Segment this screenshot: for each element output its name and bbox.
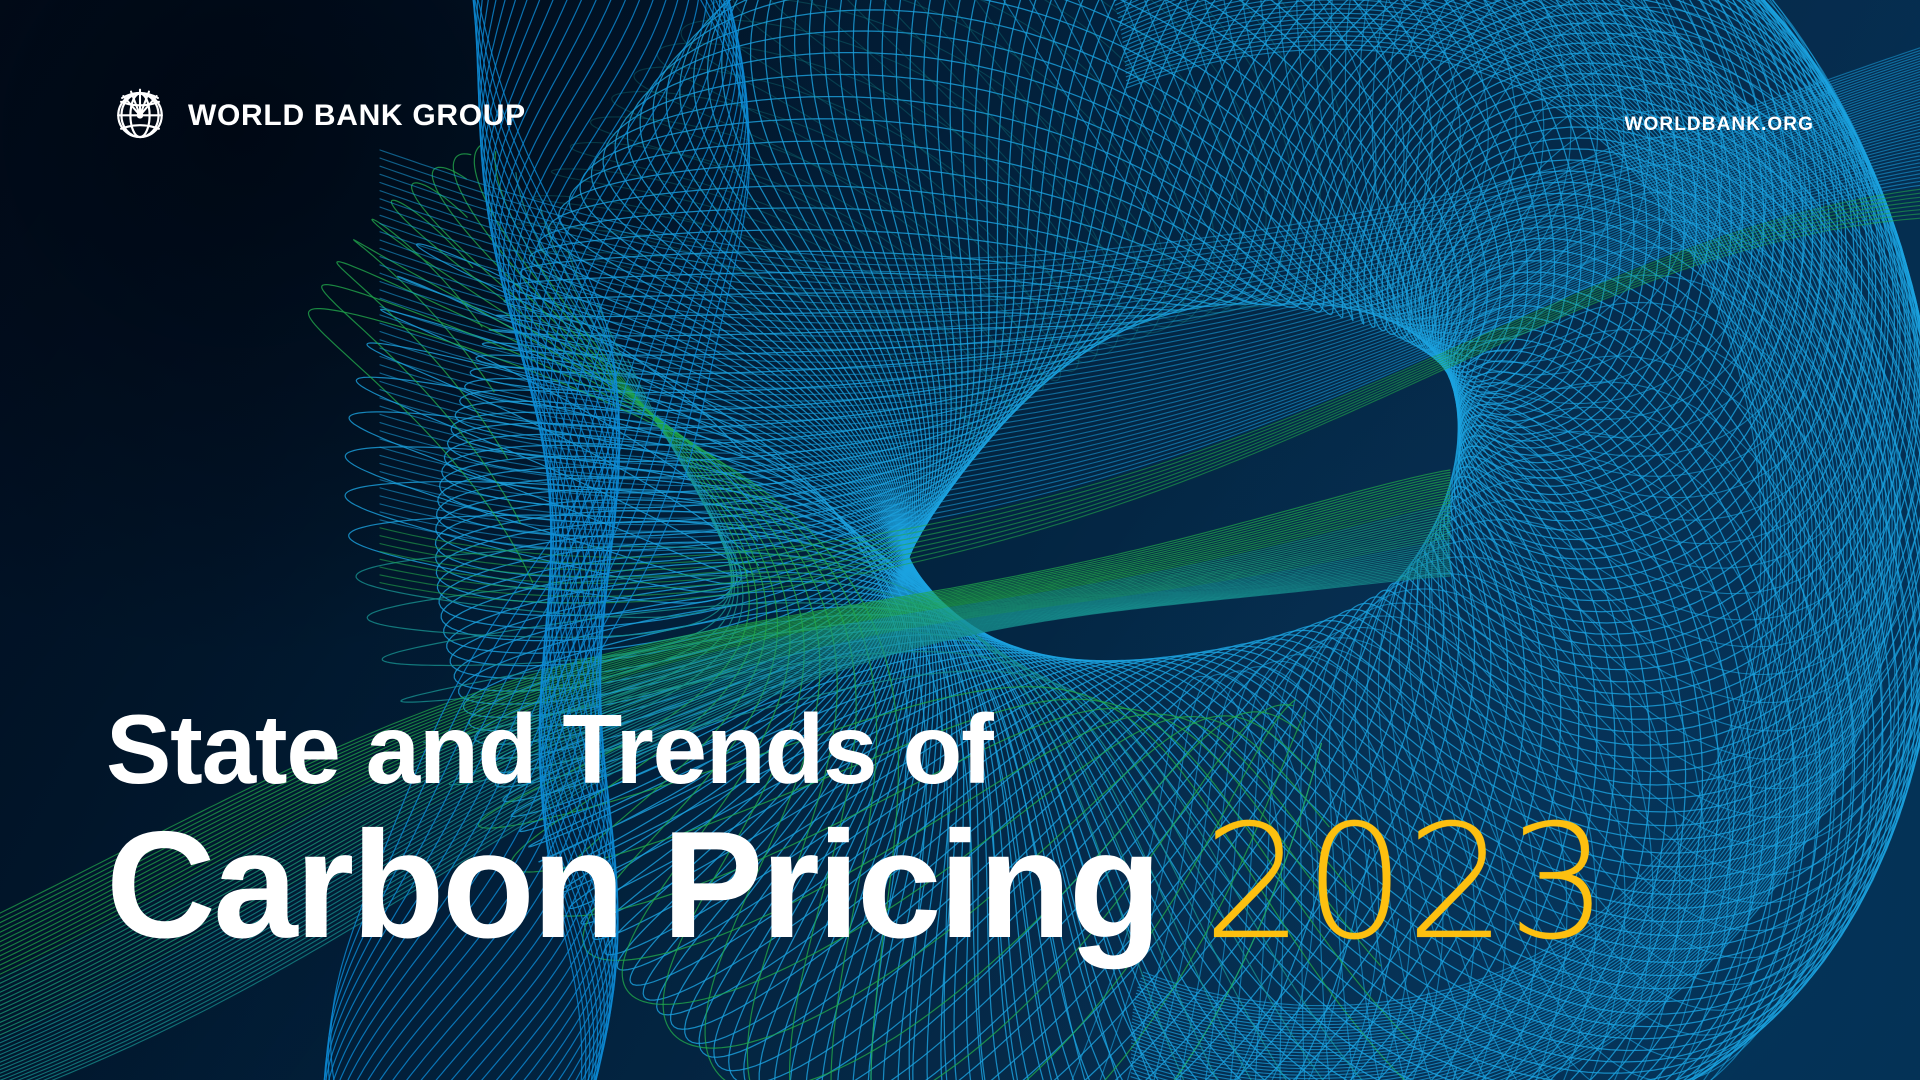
worldbank-url: WORLDBANK.ORG [1624,114,1814,136]
title-line-1: State and Trends of [106,700,1609,800]
report-cover: WORLD BANK GROUP WORLDBANK.ORG State and… [0,0,1920,1080]
title-year: 2023 [1203,804,1609,962]
title-main: Carbon Pricing [106,809,1159,961]
logo-wordmark: WORLD BANK GROUP [188,98,526,131]
cover-title: State and Trends of Carbon Pricing 2023 [106,700,1609,962]
title-line-2: Carbon Pricing 2023 [106,804,1609,962]
world-bank-logo: WORLD BANK GROUP [108,82,526,146]
world-bank-globe-icon [108,82,172,146]
